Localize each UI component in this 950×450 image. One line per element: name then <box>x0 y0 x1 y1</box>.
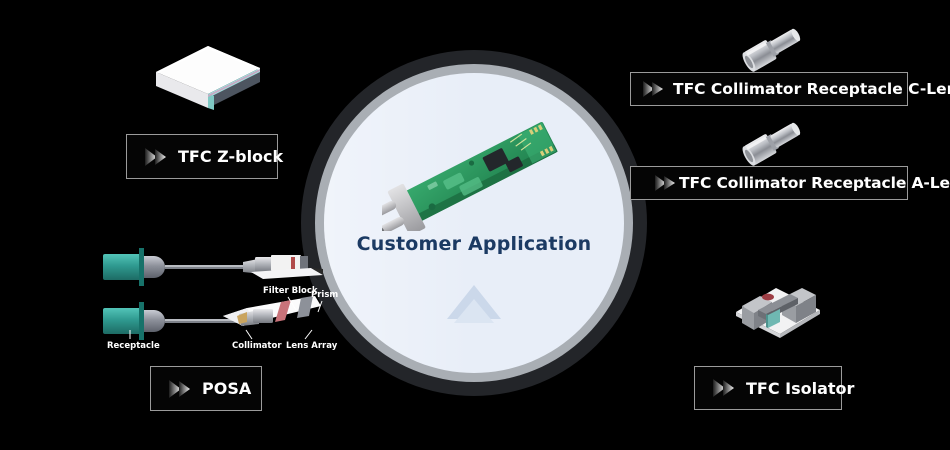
z-block-prism-icon <box>148 38 268 118</box>
chevron-right-icon <box>711 377 737 399</box>
chevron-right-icon <box>653 172 679 194</box>
callout-label: TFC Isolator <box>746 379 854 398</box>
diagram-canvas: Customer Application TFC Z-block <box>0 0 950 450</box>
callout-label: POSA <box>202 379 251 398</box>
chevron-right-icon <box>641 78 667 100</box>
chevron-right-icon <box>167 378 193 400</box>
isolator-block-icon <box>728 258 828 338</box>
customer-application-hub[interactable]: Customer Application <box>324 73 624 373</box>
posa-part-prism-label: Prism <box>311 290 338 300</box>
circuit-board-transceiver-icon <box>382 121 572 231</box>
callout-label: TFC Collimator Receptacle A-Lens <box>679 174 950 192</box>
posa-part-collimator-label: Collimator <box>232 341 282 351</box>
posa-part-lens-array-label: Lens Array <box>286 341 337 351</box>
collimator-receptacle-icon <box>735 112 815 170</box>
callout-tfc-z-block[interactable]: TFC Z-block <box>126 134 278 179</box>
callout-tfc-isolator[interactable]: TFC Isolator <box>694 366 842 410</box>
up-arrow-inner-icon <box>454 299 494 323</box>
posa-part-filter-block-label: Filter Block <box>263 286 318 296</box>
posa-part-receptacle-label: Receptacle <box>107 341 160 351</box>
hub-inner: Customer Application <box>324 73 624 373</box>
callout-tfc-collimator-receptacle-c-lens[interactable]: TFC Collimator Receptacle C-Lens <box>630 72 908 106</box>
collimator-receptacle-icon <box>735 18 815 76</box>
callout-posa[interactable]: POSA <box>150 366 262 411</box>
hub-label: Customer Application <box>324 233 624 255</box>
chevron-right-icon <box>143 146 169 168</box>
callout-tfc-collimator-receptacle-a-lens[interactable]: TFC Collimator Receptacle A-Lens <box>630 166 908 200</box>
callout-label: TFC Z-block <box>178 147 283 166</box>
callout-label: TFC Collimator Receptacle C-Lens <box>673 80 950 98</box>
